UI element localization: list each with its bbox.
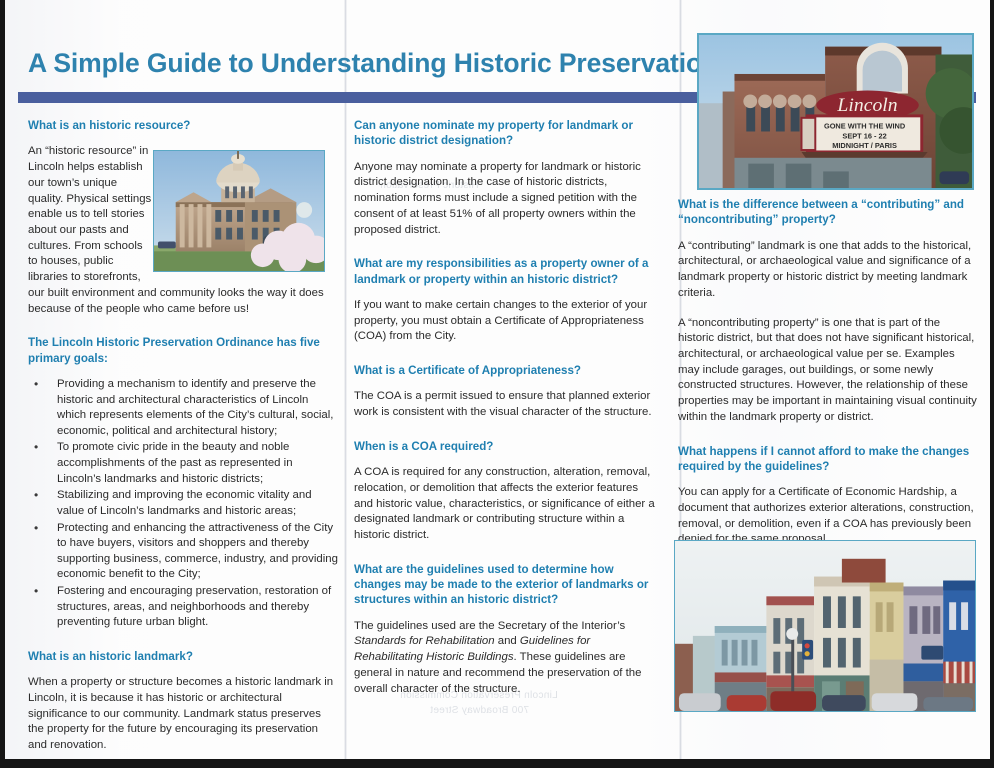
standards-title: Standards for Rehabilitation [354,635,495,647]
section-ordinance-goals: The Lincoln Historic Preservation Ordina… [28,335,338,631]
header-rule [18,92,698,103]
column-right: What is the difference between a “contri… [678,197,978,548]
section-paragraph: The COA is a permit issued to ensure tha… [354,389,659,420]
list-item: Providing a mechanism to identify and pr… [28,377,338,440]
section-owner-responsibilities: What are my responsibilities as a proper… [354,256,659,345]
section-guidelines: What are the guidelines used to determin… [354,562,659,698]
scan-edge-bottom [0,759,994,768]
scanned-brochure-page: Lincoln Preservation Commission 700 Broa… [0,0,994,768]
section-paragraph: When a property or structure becomes a h… [28,675,338,754]
guidelines-text-part1: The guidelines used are the Secretary of… [354,620,625,632]
section-heading: What happens if I cannot afford to make … [678,444,978,475]
column-middle: Can anyone nominate my property for land… [354,118,659,697]
section-heading: What is a Certificate of Appropriateness… [354,363,659,378]
svg-text:MIDNIGHT / PARIS: MIDNIGHT / PARIS [832,141,897,150]
section-historic-landmark: What is an historic landmark? When a pro… [28,649,338,754]
section-heading: What is an historic resource? [28,118,338,133]
section-paragraph: A “noncontributing property” is one that… [678,316,978,426]
photo-logan-county-courthouse [153,150,325,272]
section-heading: Can anyone nominate my property for land… [354,118,659,149]
paper-fold-left [344,0,347,768]
list-item: Stabilizing and improving the economic v… [28,488,338,519]
bleed-through-text: 700 Broadway Street [430,705,529,716]
section-heading: What are my responsibilities as a proper… [354,256,659,287]
photo-downtown-streetscape [674,540,976,712]
section-paragraph: You can apply for a Certificate of Econo… [678,485,978,548]
section-heading: The Lincoln Historic Preservation Ordina… [28,335,338,366]
svg-text:GONE WITH THE WIND: GONE WITH THE WIND [824,122,905,131]
section-paragraph: Anyone may nominate a property for landm… [354,160,659,239]
section-heading: What is the difference between a “contri… [678,197,978,228]
list-item: Protecting and enhancing the attractiven… [28,521,338,584]
list-item: Fostering and encouraging preservation, … [28,584,338,631]
scan-edge-left [0,0,5,768]
guidelines-text-part2: and [495,635,520,647]
section-heading: When is a COA required? [354,439,659,454]
section-what-is-coa: What is a Certificate of Appropriateness… [354,363,659,421]
section-heading: What are the guidelines used to determin… [354,562,659,608]
svg-text:Lincoln: Lincoln [836,95,897,116]
goals-list: Providing a mechanism to identify and pr… [28,377,338,631]
section-economic-hardship: What happens if I cannot afford to make … [678,444,978,549]
section-nominate-property: Can anyone nominate my property for land… [354,118,659,238]
section-paragraph: If you want to make certain changes to t… [354,298,659,345]
section-paragraph: A COA is required for any construction, … [354,465,659,544]
scan-edge-right [990,0,994,768]
page-title: A Simple Guide to Understanding Historic… [28,48,718,79]
section-heading: What is an historic landmark? [28,649,338,664]
section-paragraph: The guidelines used are the Secretary of… [354,619,659,698]
list-item: To promote civic pride in the beauty and… [28,440,338,487]
svg-text:SEPT 16 - 22: SEPT 16 - 22 [842,131,886,140]
photo-lincoln-theater: Lincoln GONE WITH THE WIND SEPT 16 - 22 … [697,33,974,190]
section-contributing-vs-noncontributing: What is the difference between a “contri… [678,197,978,426]
section-when-coa-required: When is a COA required? A COA is require… [354,439,659,544]
section-paragraph: A “contributing” landmark is one that ad… [678,239,978,302]
